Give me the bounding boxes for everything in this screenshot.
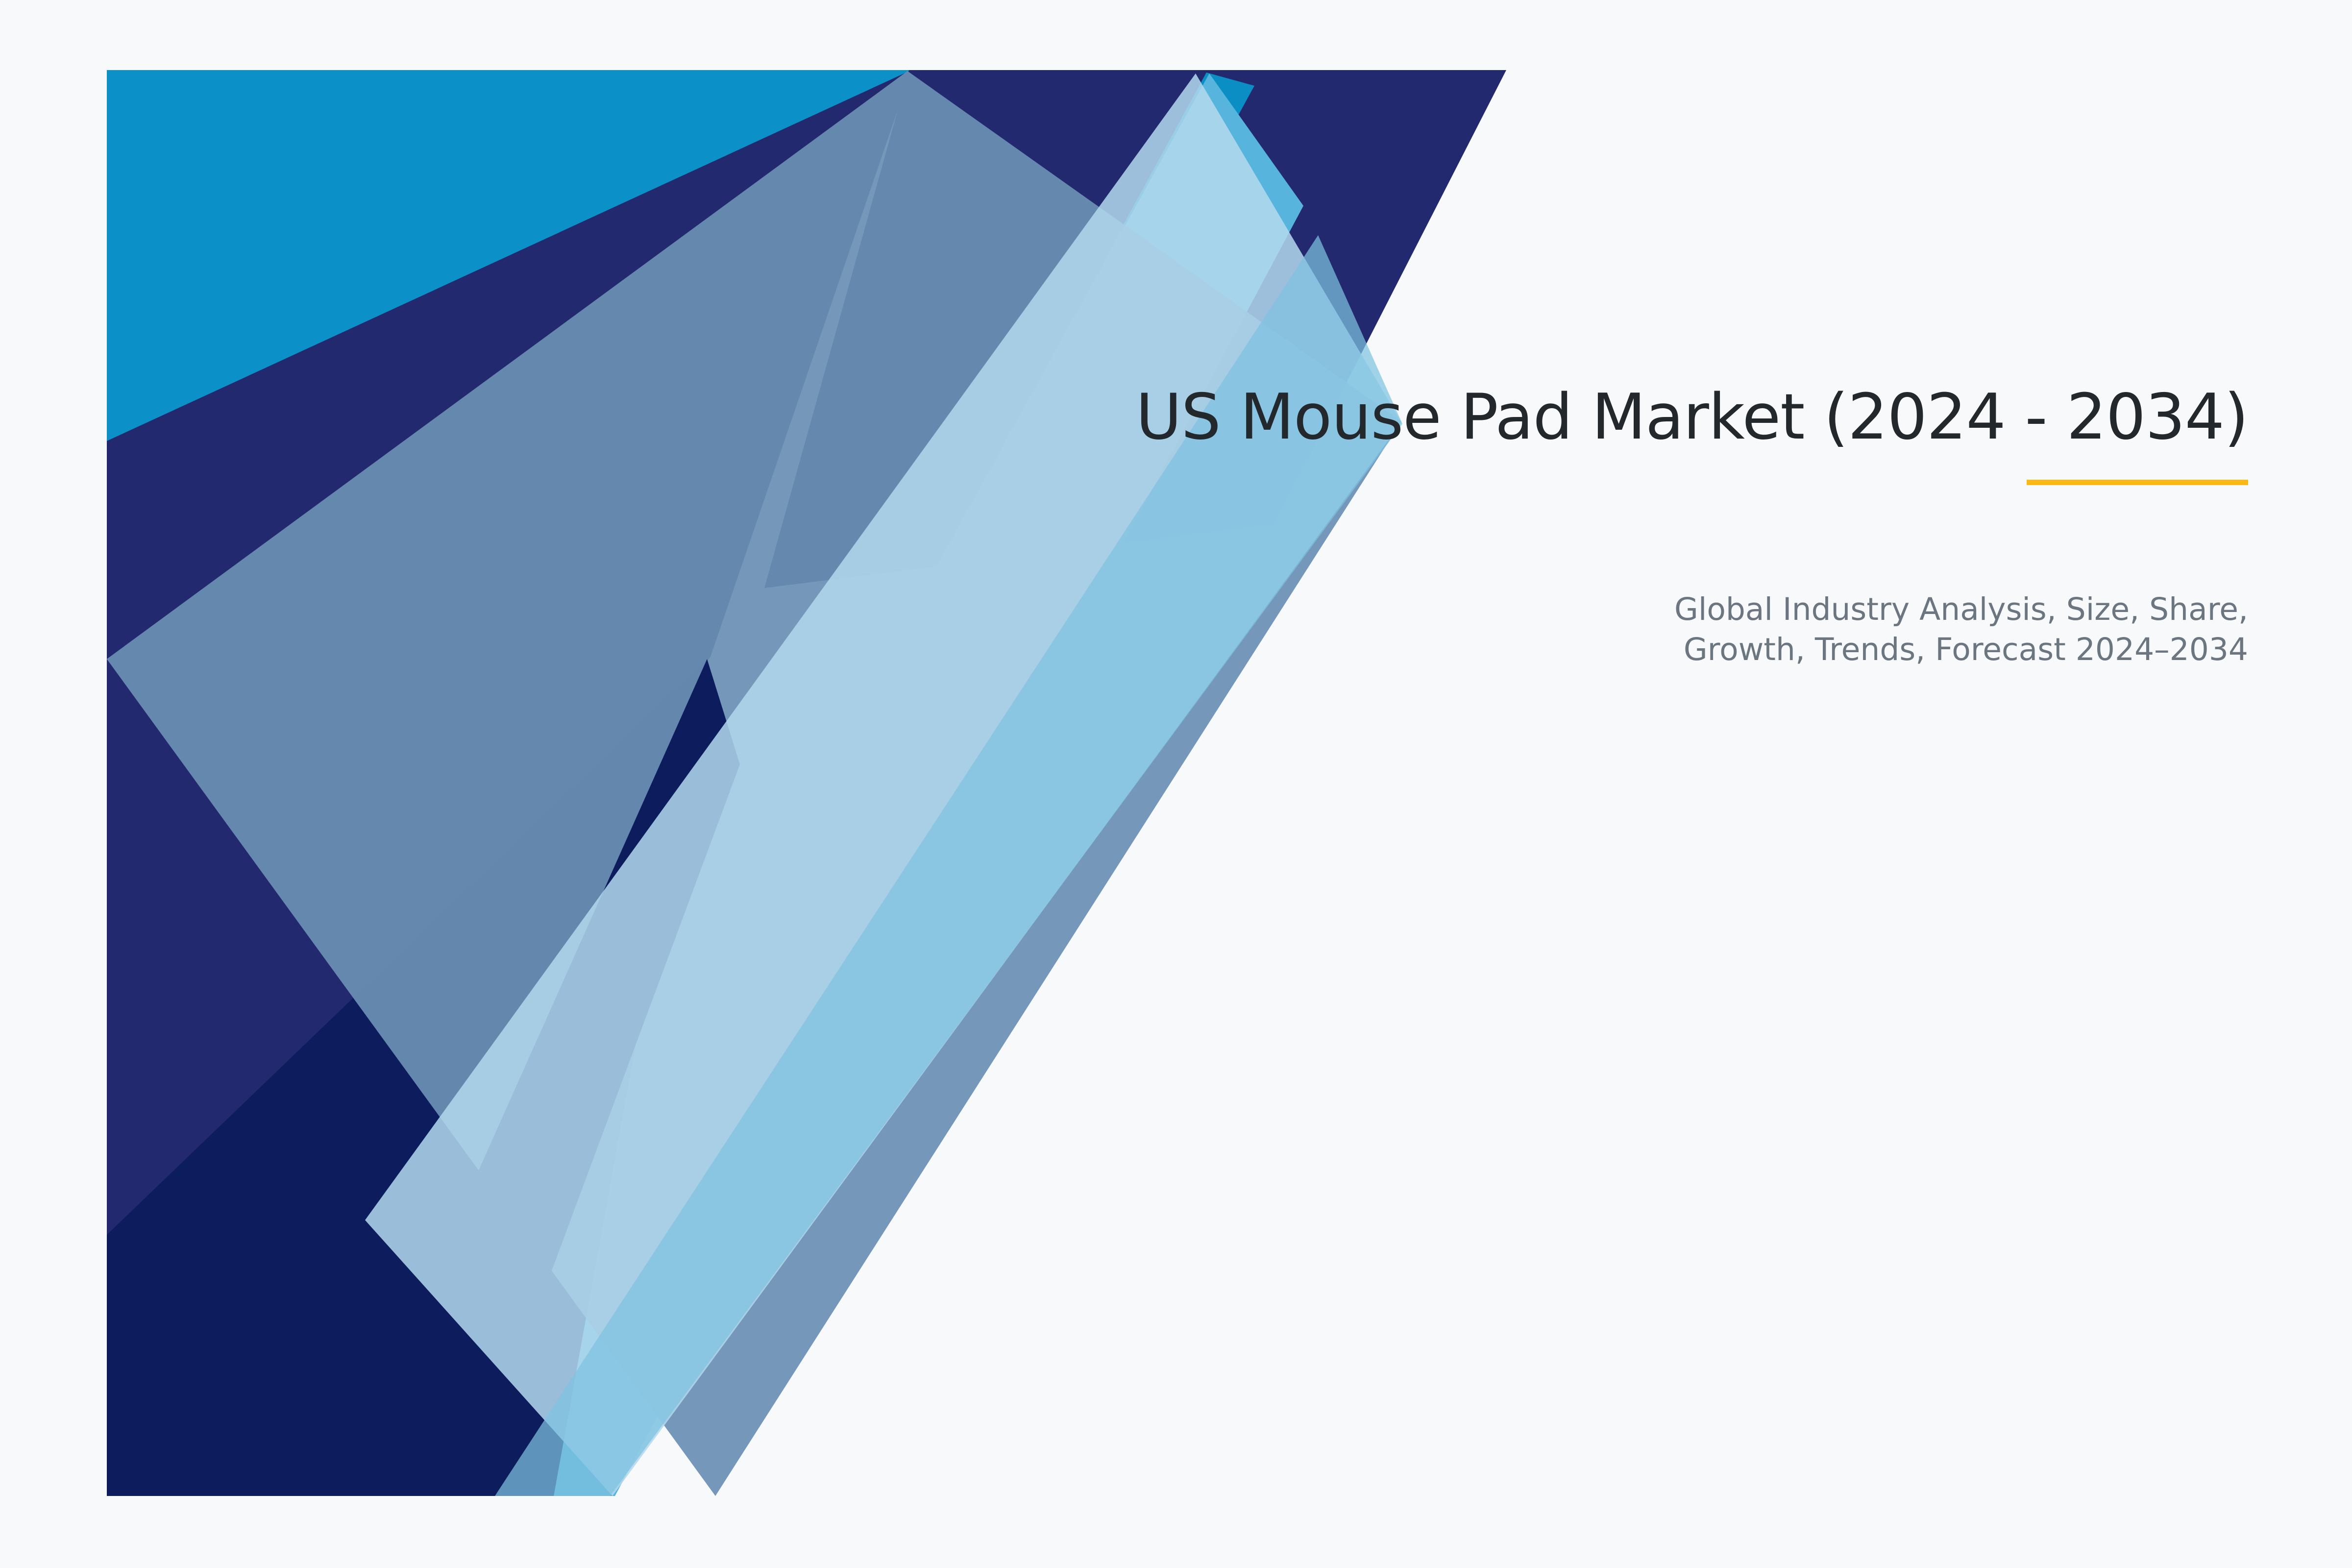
title-text-block: US Mouse Pad Market (2024 - 2034) Global… [974, 382, 2248, 670]
slide-canvas: US Mouse Pad Market (2024 - 2034) Global… [0, 0, 2352, 1568]
accent-rule-container [974, 480, 2248, 486]
deep-navy-lower-wedge-shape [107, 659, 706, 1496]
sky-blue-band-shape [421, 73, 1303, 1496]
abstract-polygon-graphic [0, 0, 2352, 1568]
page-subtitle: Global Industry Analysis, Size, Share, G… [1611, 589, 2248, 670]
page-subtitle-line-1: Global Industry Analysis, Size, Share, [1674, 591, 2248, 627]
accent-rule [2027, 480, 2248, 485]
page-title: US Mouse Pad Market (2024 - 2034) [974, 382, 2248, 452]
pale-blue-quad-shape [365, 73, 1401, 1496]
cyan-wedge-shape [107, 70, 911, 483]
page-subtitle-line-2: Growth, Trends, Forecast 2024–2034 [1684, 632, 2248, 667]
steel-blue-overlay-quad-shape [107, 71, 1401, 1496]
deep-navy-spike-shape [333, 659, 740, 1496]
navy-band-shape [107, 70, 911, 1496]
